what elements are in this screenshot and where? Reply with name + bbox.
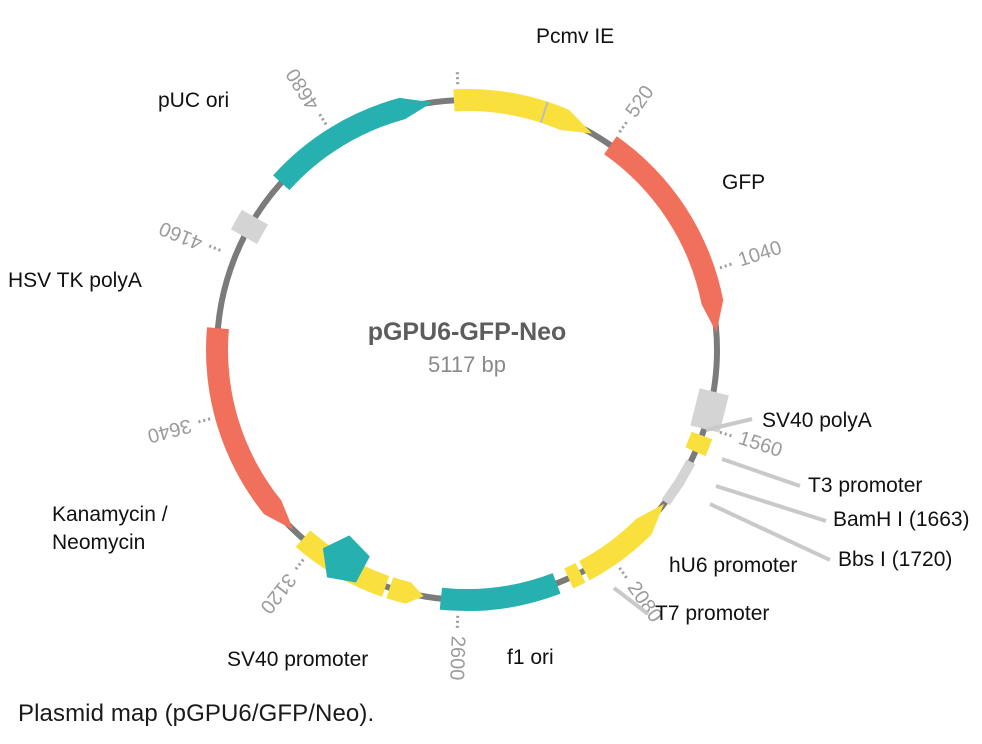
tick-label: 2600: [445, 635, 469, 680]
feature-arcs: [206, 89, 729, 611]
feature-label[interactable]: Pcmv IE: [536, 25, 614, 48]
feature-label[interactable]: pUC ori: [158, 89, 229, 112]
feature-labels: Pcmv IEGFPSV40 polyAT3 promoterBamH I (1…: [8, 25, 970, 671]
feature-arc[interactable]: [273, 98, 432, 190]
tick-label: 1040: [735, 237, 784, 272]
feature-label[interactable]: SV40 promoter: [227, 648, 368, 671]
figure-caption: Plasmid map (pGPU6/GFP/Neo).: [18, 700, 374, 728]
tick-label: 3120: [255, 569, 300, 618]
feature-arc[interactable]: [440, 573, 561, 611]
tick-mark: 1040: [720, 237, 785, 272]
tick-label: 1560: [736, 427, 785, 462]
page-title: pGPU6-GFP-Neo: [368, 318, 567, 346]
feature-label[interactable]: BamH I (1663): [833, 508, 970, 531]
tick-mark: 1560: [720, 427, 785, 462]
tick-mark: 3640: [145, 414, 210, 447]
tick-mark: 520: [620, 82, 659, 132]
tick-mark: 4680: [282, 64, 326, 124]
feature-arc[interactable]: [453, 89, 592, 133]
feature-label[interactable]: SV40 polyA: [762, 409, 872, 432]
tick-label: 520: [621, 82, 658, 122]
feature-arc[interactable]: [206, 327, 293, 530]
feature-label[interactable]: hU6 promoter: [669, 554, 797, 577]
feature-label[interactable]: f1 ori: [507, 646, 554, 669]
feature-label[interactable]: T7 promoter: [655, 602, 769, 625]
tick-mark: 3120: [255, 560, 303, 618]
feature-arc[interactable]: [579, 504, 664, 581]
feature-arc[interactable]: [662, 478, 685, 505]
feature-arc[interactable]: [231, 210, 268, 244]
feature-label[interactable]: HSV TK polyA: [8, 269, 142, 292]
plasmid-size-label: 5117 bp: [428, 352, 506, 377]
feature-arc[interactable]: [685, 432, 712, 456]
tick-mark: 2600: [445, 616, 469, 681]
tick-label: 4160: [156, 217, 206, 254]
plasmid-map-svg: 52010401560208026003120364041604680 Pcmv…: [0, 0, 982, 744]
leader-line: [710, 504, 830, 560]
tick-label: 4680: [282, 64, 324, 113]
leader-line: [722, 459, 800, 486]
feature-label[interactable]: GFP: [722, 171, 765, 194]
feature-arc[interactable]: [386, 577, 423, 603]
plasmid-map-figure: 52010401560208026003120364041604680 Pcmv…: [0, 0, 982, 744]
feature-arc[interactable]: [604, 136, 723, 332]
feature-label[interactable]: T3 promoter: [808, 474, 922, 497]
feature-label[interactable]: Bbs I (1720): [838, 548, 952, 571]
feature-label[interactable]: Kanamycin /: [52, 503, 168, 526]
feature-label[interactable]: Neomycin: [52, 531, 145, 554]
tick-mark: 4160: [156, 217, 220, 254]
tick-label: 3640: [145, 414, 194, 447]
